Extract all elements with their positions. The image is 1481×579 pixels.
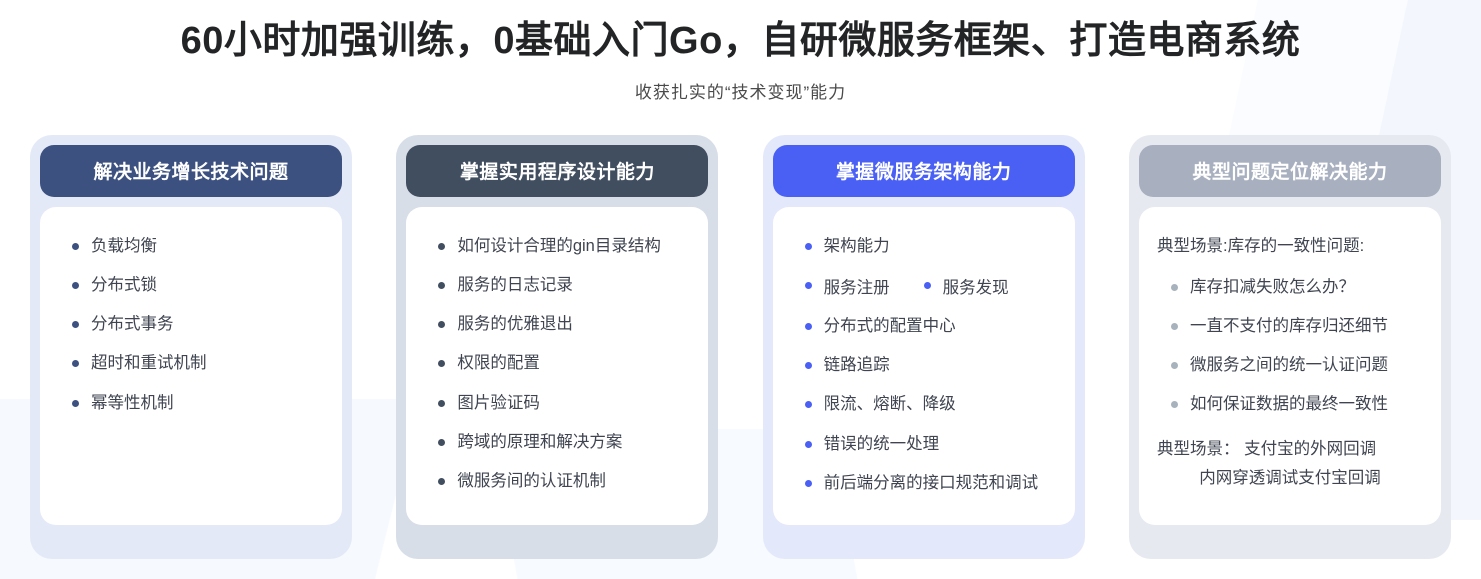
list-item-label: 分布式事务: [91, 313, 174, 335]
list-item: 库存扣减失败怎么办？: [1157, 276, 1423, 298]
list-item: 链路追踪: [791, 354, 1057, 376]
list-item: 限流、熔断、降级: [791, 393, 1057, 415]
bullet-dot-icon: [805, 243, 812, 250]
list-item: 微服务之间的统一认证问题: [1157, 354, 1423, 376]
list-item: 跨域的原理和解决方案: [424, 431, 690, 453]
bullet-dot-icon: [1171, 362, 1178, 369]
list-item-label: 如何设计合理的gin目录结构: [457, 235, 661, 257]
bullet-dot-icon: [72, 243, 79, 250]
list-item: 负载均衡: [58, 235, 324, 257]
scenario-note-bottom: 典型场景： 支付宝的外网回调内网穿透调试支付宝回调: [1157, 438, 1423, 490]
bullet-dot-icon: [438, 243, 445, 250]
list-item-label: 一直不支付的库存归还细节: [1190, 315, 1388, 337]
feature-card-title: 典型问题定位解决能力: [1139, 145, 1441, 197]
bullet-dot-icon: [805, 282, 812, 289]
feature-card-body: 如何设计合理的gin目录结构服务的日志记录服务的优雅退出权限的配置图片验证码跨域…: [406, 207, 708, 525]
page-title: 60小时加强训练，0基础入门Go，自研微服务框架、打造电商系统: [0, 18, 1481, 66]
list-item: 如何设计合理的gin目录结构: [424, 235, 690, 257]
bullet-dot-icon: [805, 480, 812, 487]
feature-card-title: 掌握实用程序设计能力: [406, 145, 708, 197]
bullet-dot-icon: [1171, 284, 1178, 291]
list-item-label: 库存扣减失败怎么办？: [1190, 276, 1355, 298]
list-item-label: 幂等性机制: [91, 392, 174, 414]
list-item: 微服务间的认证机制: [424, 470, 690, 492]
feature-card-body: 典型场景:库存的一致性问题:库存扣减失败怎么办？一直不支付的库存归还细节微服务之…: [1139, 207, 1441, 525]
bullet-dot-icon: [805, 401, 812, 408]
list-item-label: 分布式的配置中心: [824, 315, 956, 337]
list-item-label: 图片验证码: [457, 392, 540, 414]
list-item: 架构能力: [791, 235, 1057, 257]
bullet-dot-icon: [805, 323, 812, 330]
feature-card: 掌握微服务架构能力架构能力服务注册服务发现分布式的配置中心链路追踪限流、熔断、降…: [763, 135, 1085, 559]
bullet-dot-icon: [72, 360, 79, 367]
bullet-dot-icon: [438, 360, 445, 367]
scenario-note-top: 典型场景:库存的一致性问题:: [1157, 235, 1423, 258]
scenario-note-bottom-line2: 内网穿透调试支付宝回调: [1157, 467, 1423, 490]
list-item: 分布式锁: [58, 274, 324, 296]
list-item: 分布式事务: [58, 313, 324, 335]
list-item: 一直不支付的库存归还细节: [1157, 315, 1423, 337]
list-item: 分布式的配置中心: [791, 315, 1057, 337]
feature-card-title: 掌握微服务架构能力: [773, 145, 1075, 197]
feature-card-body: 负载均衡分布式锁分布式事务超时和重试机制幂等性机制: [40, 207, 342, 525]
list-item: 图片验证码: [424, 392, 690, 414]
bullet-dot-icon: [1171, 401, 1178, 408]
list-item-label: 限流、熔断、降级: [824, 393, 956, 415]
list-item-label: 负载均衡: [91, 235, 157, 257]
bullet-dot-icon: [438, 282, 445, 289]
list-item: 超时和重试机制: [58, 352, 324, 374]
bullet-dot-icon: [1171, 323, 1178, 330]
list-item: 服务的日志记录: [424, 274, 690, 296]
feature-card: 解决业务增长技术问题负载均衡分布式锁分布式事务超时和重试机制幂等性机制: [30, 135, 352, 559]
list-item-label: 微服务间的认证机制: [457, 470, 606, 492]
list-item: 幂等性机制: [58, 392, 324, 414]
bullet-dot-icon: [438, 321, 445, 328]
list-item: 前后端分离的接口规范和调试: [791, 472, 1057, 494]
feature-card: 典型问题定位解决能力典型场景:库存的一致性问题:库存扣减失败怎么办？一直不支付的…: [1129, 135, 1451, 559]
list-item-label: 跨域的原理和解决方案: [457, 431, 622, 453]
list-item-label: 前后端分离的接口规范和调试: [824, 472, 1039, 494]
list-item-label: 架构能力: [824, 235, 890, 257]
bullet-dot-icon: [805, 362, 812, 369]
list-item-label: 服务的优雅退出: [457, 313, 573, 335]
bullet-dot-icon: [438, 439, 445, 446]
feature-card-body: 架构能力服务注册服务发现分布式的配置中心链路追踪限流、熔断、降级错误的统一处理前…: [773, 207, 1075, 525]
list-item-label: 超时和重试机制: [91, 352, 207, 374]
list-item: 如何保证数据的最终一致性: [1157, 393, 1423, 415]
list-item-label: 如何保证数据的最终一致性: [1190, 393, 1388, 415]
list-item-label: 服务发现: [943, 274, 1009, 298]
bullet-dot-icon: [72, 282, 79, 289]
page-subtitle: 收获扎实的“技术变现”能力: [0, 78, 1481, 103]
list-item: 服务注册服务发现: [791, 274, 1057, 298]
bullet-dot-icon: [924, 282, 931, 289]
feature-bullet-list: 如何设计合理的gin目录结构服务的日志记录服务的优雅退出权限的配置图片验证码跨域…: [424, 235, 690, 493]
bullet-dot-icon: [438, 478, 445, 485]
list-item: 权限的配置: [424, 352, 690, 374]
bullet-dot-icon: [72, 321, 79, 328]
feature-bullet-list: 负载均衡分布式锁分布式事务超时和重试机制幂等性机制: [58, 235, 324, 414]
page-header: 60小时加强训练，0基础入门Go，自研微服务框架、打造电商系统 收获扎实的“技术…: [0, 0, 1481, 103]
feature-card: 掌握实用程序设计能力如何设计合理的gin目录结构服务的日志记录服务的优雅退出权限…: [396, 135, 718, 559]
bullet-dot-icon: [805, 441, 812, 448]
feature-cards-row: 解决业务增长技术问题负载均衡分布式锁分布式事务超时和重试机制幂等性机制掌握实用程…: [0, 135, 1481, 559]
bullet-dot-icon: [438, 400, 445, 407]
feature-bullet-list: 库存扣减失败怎么办？一直不支付的库存归还细节微服务之间的统一认证问题如何保证数据…: [1157, 276, 1423, 416]
list-item: 错误的统一处理: [791, 433, 1057, 455]
list-item-label: 分布式锁: [91, 274, 157, 296]
list-item: 服务的优雅退出: [424, 313, 690, 335]
bullet-dot-icon: [72, 400, 79, 407]
list-item-label: 错误的统一处理: [824, 433, 940, 455]
scenario-note-bottom-line1: 典型场景： 支付宝的外网回调: [1157, 438, 1423, 461]
list-item-label: 链路追踪: [824, 354, 890, 376]
list-item-label: 服务的日志记录: [457, 274, 573, 296]
list-item-label: 微服务之间的统一认证问题: [1190, 354, 1388, 376]
feature-bullet-list: 架构能力服务注册服务发现分布式的配置中心链路追踪限流、熔断、降级错误的统一处理前…: [791, 235, 1057, 495]
list-item-label: 服务注册: [824, 274, 890, 298]
list-item-part: 服务发现: [924, 274, 1009, 298]
feature-card-title: 解决业务增长技术问题: [40, 145, 342, 197]
list-item-label: 权限的配置: [457, 352, 540, 374]
list-item-part: 服务注册: [805, 274, 890, 298]
